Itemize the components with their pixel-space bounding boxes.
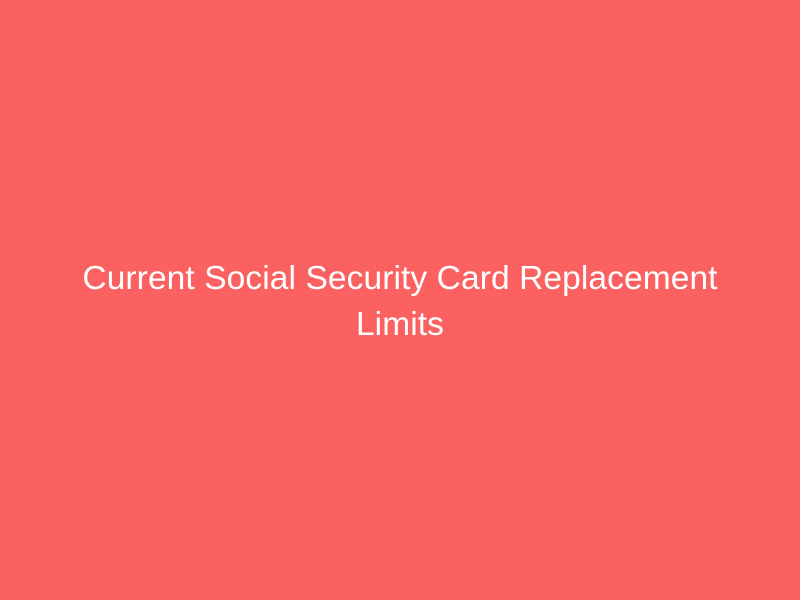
banner-title-block: Current Social Security Card Replacement…	[80, 256, 720, 348]
page-title: Current Social Security Card Replacement…	[80, 256, 720, 348]
banner-container: Current Social Security Card Replacement…	[0, 0, 800, 600]
